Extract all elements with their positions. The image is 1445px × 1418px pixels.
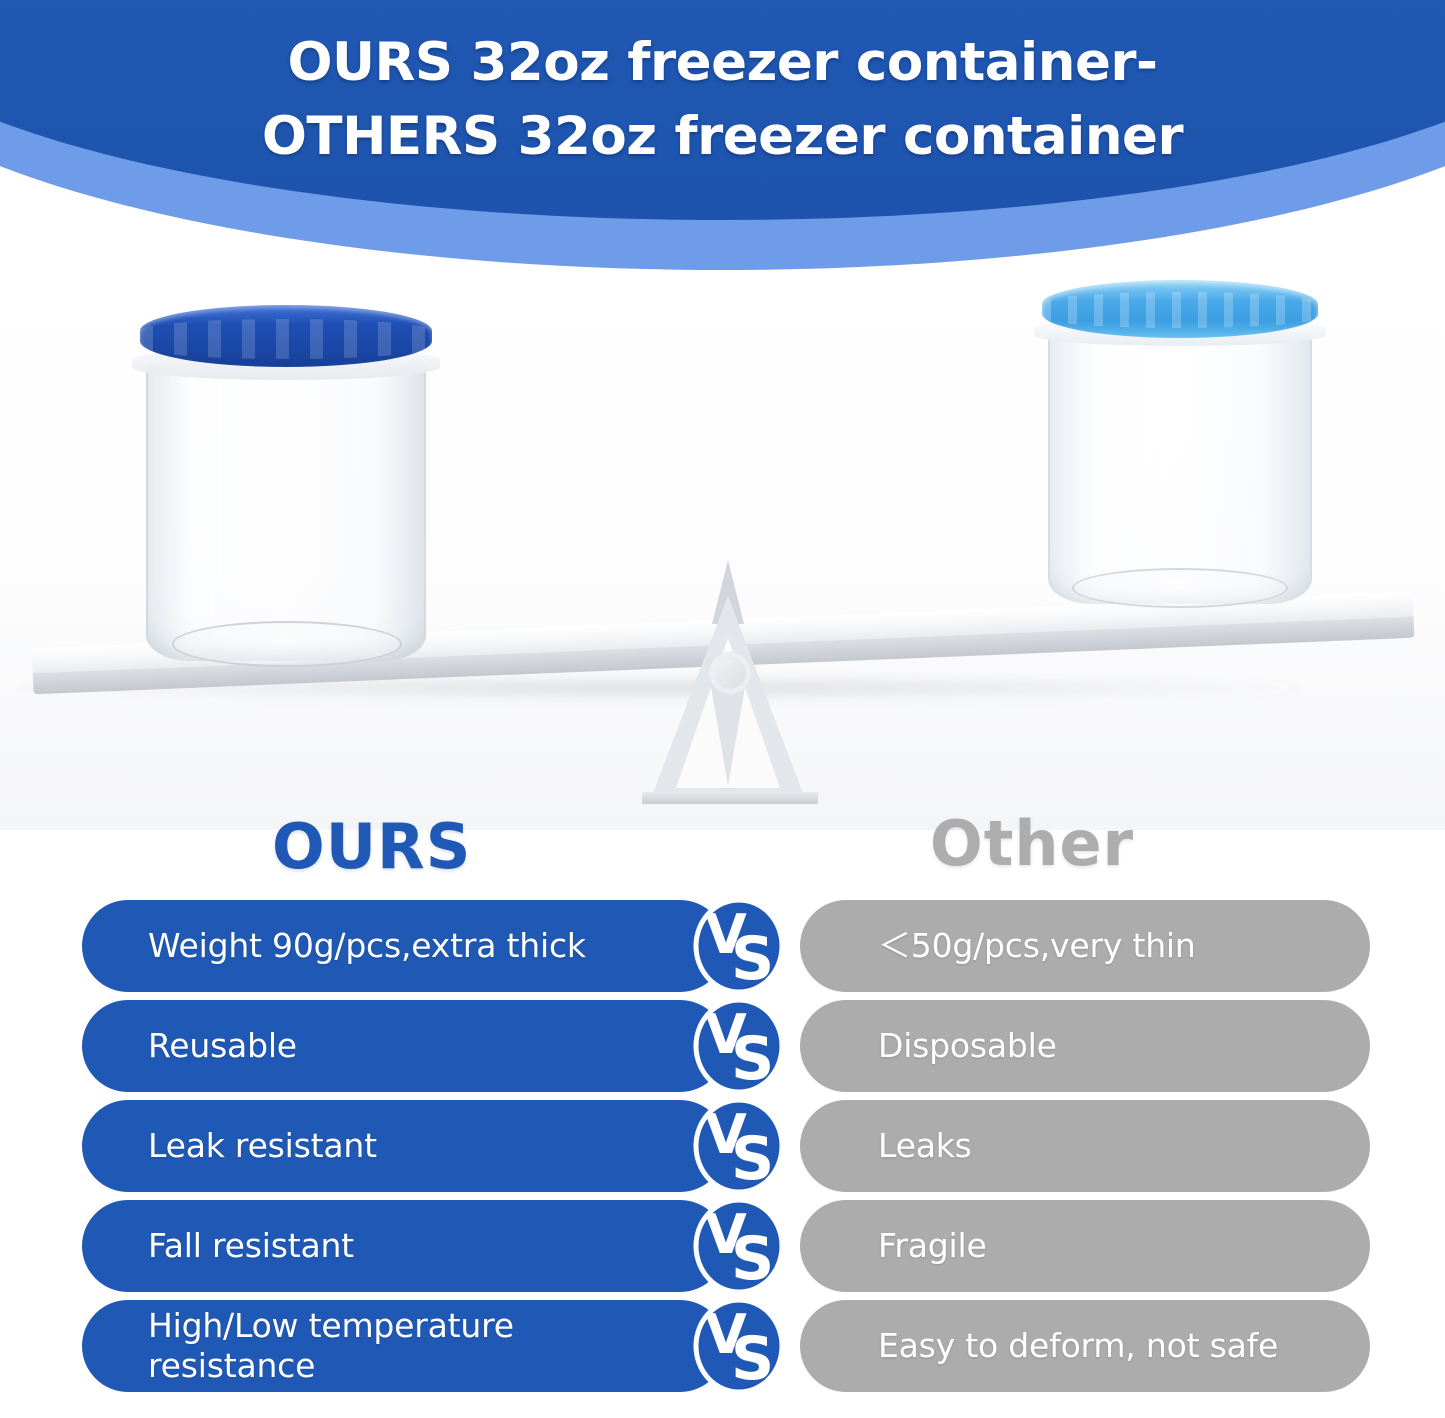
ours-cell: Weight 90g/pcs,extra thick (82, 900, 726, 992)
svg-text:S: S (731, 1124, 774, 1194)
infographic-page: OURS 32oz freezer container- OTHERS 32oz… (0, 0, 1445, 1418)
svg-text:S: S (731, 1024, 774, 1094)
column-heading-other: Other (930, 810, 1134, 878)
ours-cell: Fall resistant (82, 1200, 726, 1292)
ours-container-bottom (172, 621, 402, 667)
ours-container-body (146, 361, 426, 661)
ours-cell: High/Low temperature resistance (82, 1300, 726, 1392)
other-cell: Fragile (800, 1200, 1370, 1292)
other-cell-text: Easy to deform, not safe (878, 1326, 1278, 1366)
ours-cell-text: Leak resistant (148, 1126, 377, 1166)
other-cell: Easy to deform, not safe (800, 1300, 1370, 1392)
svg-text:S: S (731, 1224, 774, 1294)
other-cell: Leaks (800, 1100, 1370, 1192)
ours-cell-text: High/Low temperature resistance (148, 1306, 514, 1386)
header-banner: OURS 32oz freezer container- OTHERS 32oz… (0, 0, 1445, 280)
other-lid-ribs (1042, 292, 1318, 328)
ours-lid-ribs (140, 319, 432, 359)
comparison-table: Weight 90g/pcs,extra thick ＜50g/pcs,very… (0, 900, 1445, 1400)
ours-cell: Reusable (82, 1000, 726, 1092)
comparison-row: Leak resistant Leaks V S (0, 1100, 1445, 1192)
svg-text:S: S (731, 1324, 774, 1394)
ours-cell-text: Weight 90g/pcs,extra thick (148, 926, 586, 966)
fulcrum-base (642, 792, 818, 804)
other-container-image (1030, 280, 1330, 620)
other-container-body (1048, 332, 1312, 604)
comparison-row: High/Low temperature resistance Easy to … (0, 1300, 1445, 1392)
fulcrum-pivot (709, 652, 751, 694)
comparison-row: Weight 90g/pcs,extra thick ＜50g/pcs,very… (0, 900, 1445, 992)
ours-cell-text: Reusable (148, 1026, 297, 1066)
vs-icon: V S (693, 1197, 785, 1295)
vs-icon: V S (693, 1297, 785, 1395)
banner-title: OURS 32oz freezer container- OTHERS 32oz… (0, 26, 1445, 174)
comparison-row: Reusable Disposable V S (0, 1000, 1445, 1092)
ours-cell: Leak resistant (82, 1100, 726, 1192)
fulcrum (634, 596, 824, 811)
other-cell-text: Fragile (878, 1226, 987, 1266)
svg-text:S: S (731, 924, 774, 994)
other-cell-text: ＜50g/pcs,very thin (878, 926, 1196, 966)
other-cell: ＜50g/pcs,very thin (800, 900, 1370, 992)
other-cell-text: Disposable (878, 1026, 1057, 1066)
vs-icon: V S (693, 897, 785, 995)
comparison-row: Fall resistant Fragile V S (0, 1200, 1445, 1292)
vs-icon: V S (693, 1097, 785, 1195)
vs-icon: V S (693, 997, 785, 1095)
ours-cell-text: Fall resistant (148, 1226, 354, 1266)
other-container-bottom (1072, 568, 1288, 608)
other-cell-text: Leaks (878, 1126, 972, 1166)
ours-container-image (126, 305, 446, 675)
balance-scale-scene (0, 270, 1445, 830)
column-heading-ours: OURS (272, 813, 471, 881)
other-cell: Disposable (800, 1000, 1370, 1092)
